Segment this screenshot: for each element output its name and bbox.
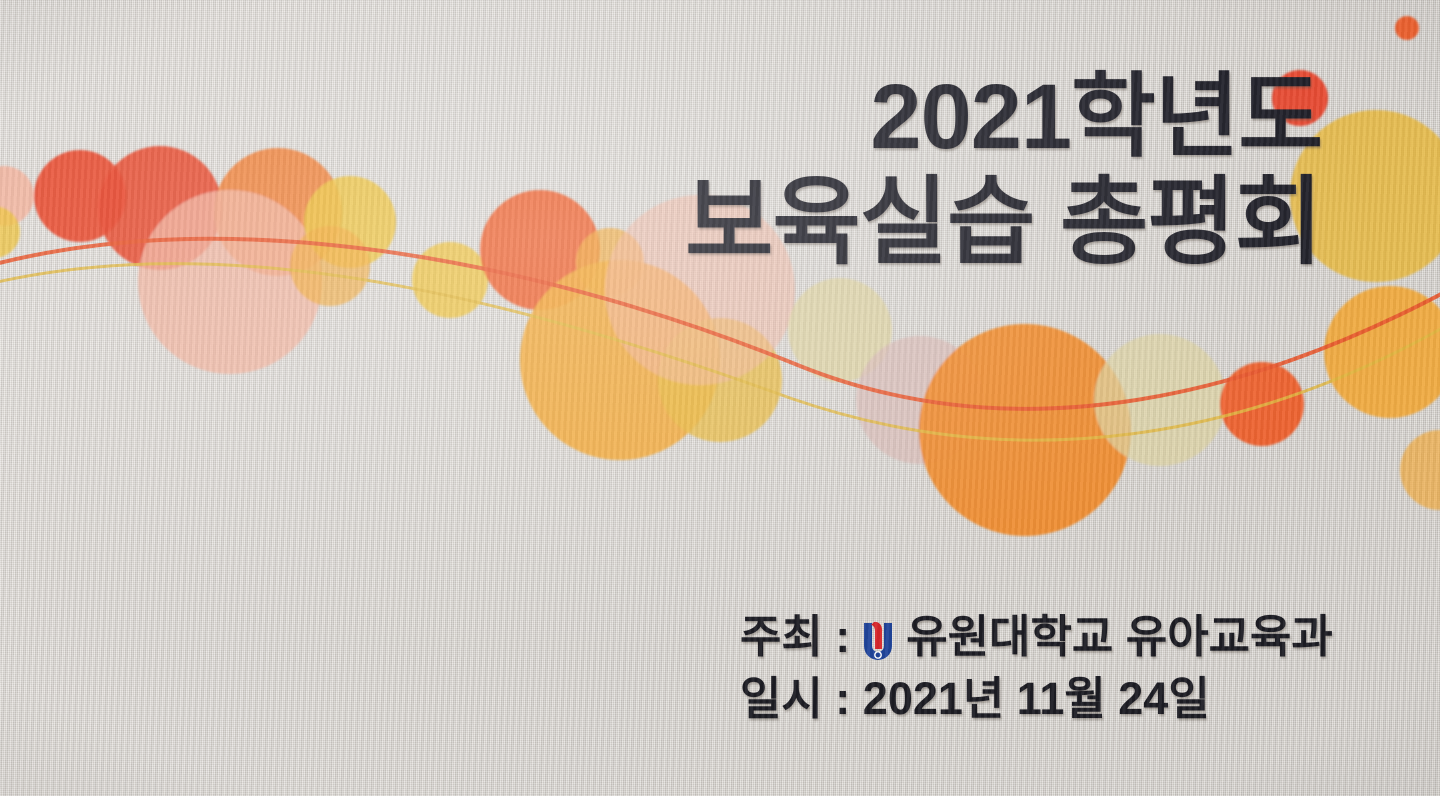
host-line: 주최 : 유원대학교 유아교육과 (740, 606, 1333, 668)
title-line-1: 2021학년도 (685, 64, 1322, 171)
title-line-2: 보육실습 총평회 (685, 167, 1322, 278)
banner-title: 2021학년도 보육실습 총평회 (685, 64, 1322, 278)
host-label: 주최 : (740, 606, 850, 668)
date-line: 일시 : 2021년 11월 24일 (740, 668, 1333, 730)
banner-photo: 2021학년도 보육실습 총평회 주최 : 유원대학교 유아교육과 일시 : 2… (0, 0, 1440, 796)
deco-circle (290, 226, 370, 306)
deco-circle (919, 324, 1131, 536)
deco-circle (1094, 334, 1226, 466)
deco-circle (1400, 430, 1440, 510)
deco-circle (1395, 16, 1419, 40)
banner-footer: 주최 : 유원대학교 유아교육과 일시 : 2021년 11월 24일 (740, 606, 1333, 729)
host-name: 유원대학교 유아교육과 (906, 606, 1333, 668)
university-logo-icon (860, 617, 896, 661)
deco-circle (412, 242, 488, 318)
